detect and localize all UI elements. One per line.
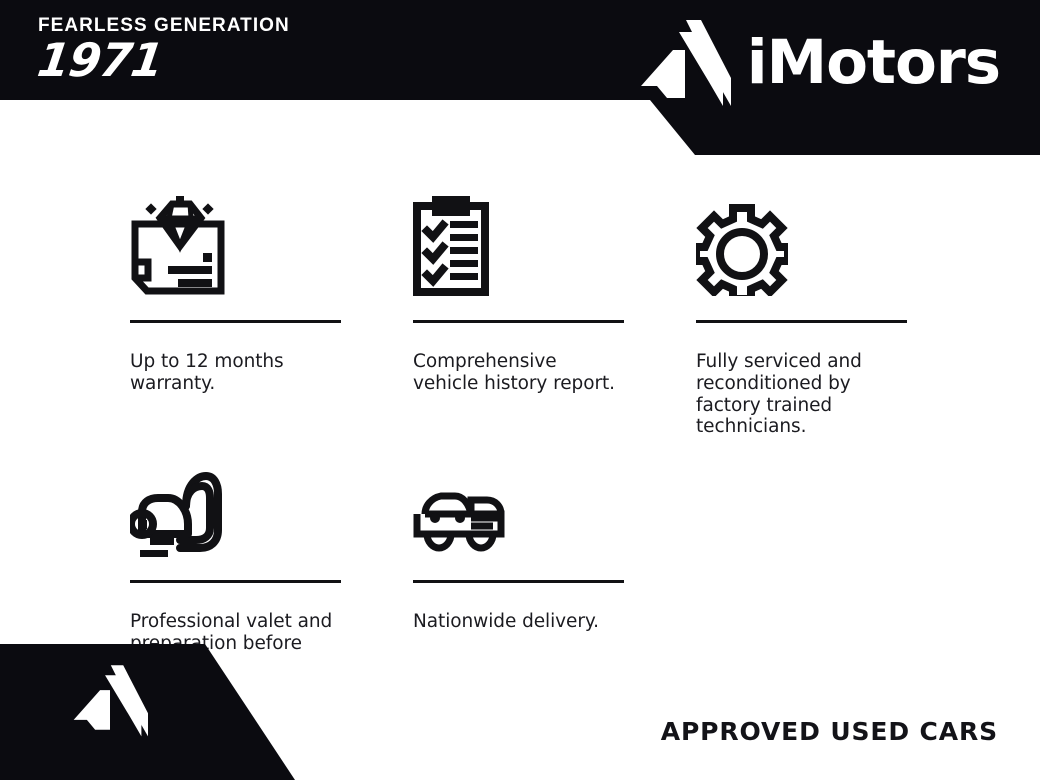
feature-divider (696, 320, 907, 323)
brand-name: iMotors (747, 32, 1000, 93)
feature-divider (130, 580, 341, 583)
feature-label-history-report: Comprehensive vehicle history report. (413, 351, 624, 395)
marketing-slide: FEARLESS GENERATION 1971 iMotors (0, 0, 1040, 780)
feature-card-delivery: Nationwide delivery. (413, 454, 624, 633)
feature-card-history-report: Comprehensive vehicle history report. (413, 186, 624, 395)
feature-label-serviced: Fully serviced and reconditioned by fact… (696, 351, 907, 438)
feature-label-delivery: Nationwide delivery. (413, 611, 624, 633)
feature-card-serviced: Fully serviced and reconditioned by fact… (696, 186, 907, 438)
features-row-2: Professional valet and preparation befor… (130, 454, 920, 676)
feature-divider (413, 320, 624, 323)
header-brand-right[interactable]: iMotors (639, 18, 1000, 106)
feature-card-valet: Professional valet and preparation befor… (130, 454, 341, 676)
header-year-text: 1971 (35, 39, 165, 83)
feature-divider (130, 320, 341, 323)
features-grid: Up to 12 months warranty. (130, 186, 920, 677)
imotors-chevron-logo-icon (72, 662, 148, 738)
imotors-chevron-logo-icon (639, 18, 731, 106)
warranty-certificate-diamond-icon (130, 186, 341, 296)
feature-divider (413, 580, 624, 583)
clipboard-checklist-icon (413, 186, 624, 296)
feature-label-warranty: Up to 12 months warranty. (130, 351, 341, 395)
footer-tagline: APPROVED USED CARS (661, 717, 998, 746)
header-brand-left: FEARLESS GENERATION 1971 (38, 16, 368, 85)
header-bar: FEARLESS GENERATION 1971 iMotors (0, 0, 1040, 155)
vacuum-cleaner-icon (130, 454, 341, 558)
car-transporter-truck-icon (413, 454, 624, 558)
features-row-1: Up to 12 months warranty. (130, 186, 920, 438)
feature-card-warranty: Up to 12 months warranty. (130, 186, 341, 395)
header-year-mark: 1971 (38, 39, 158, 85)
gear-cog-icon (696, 186, 907, 296)
